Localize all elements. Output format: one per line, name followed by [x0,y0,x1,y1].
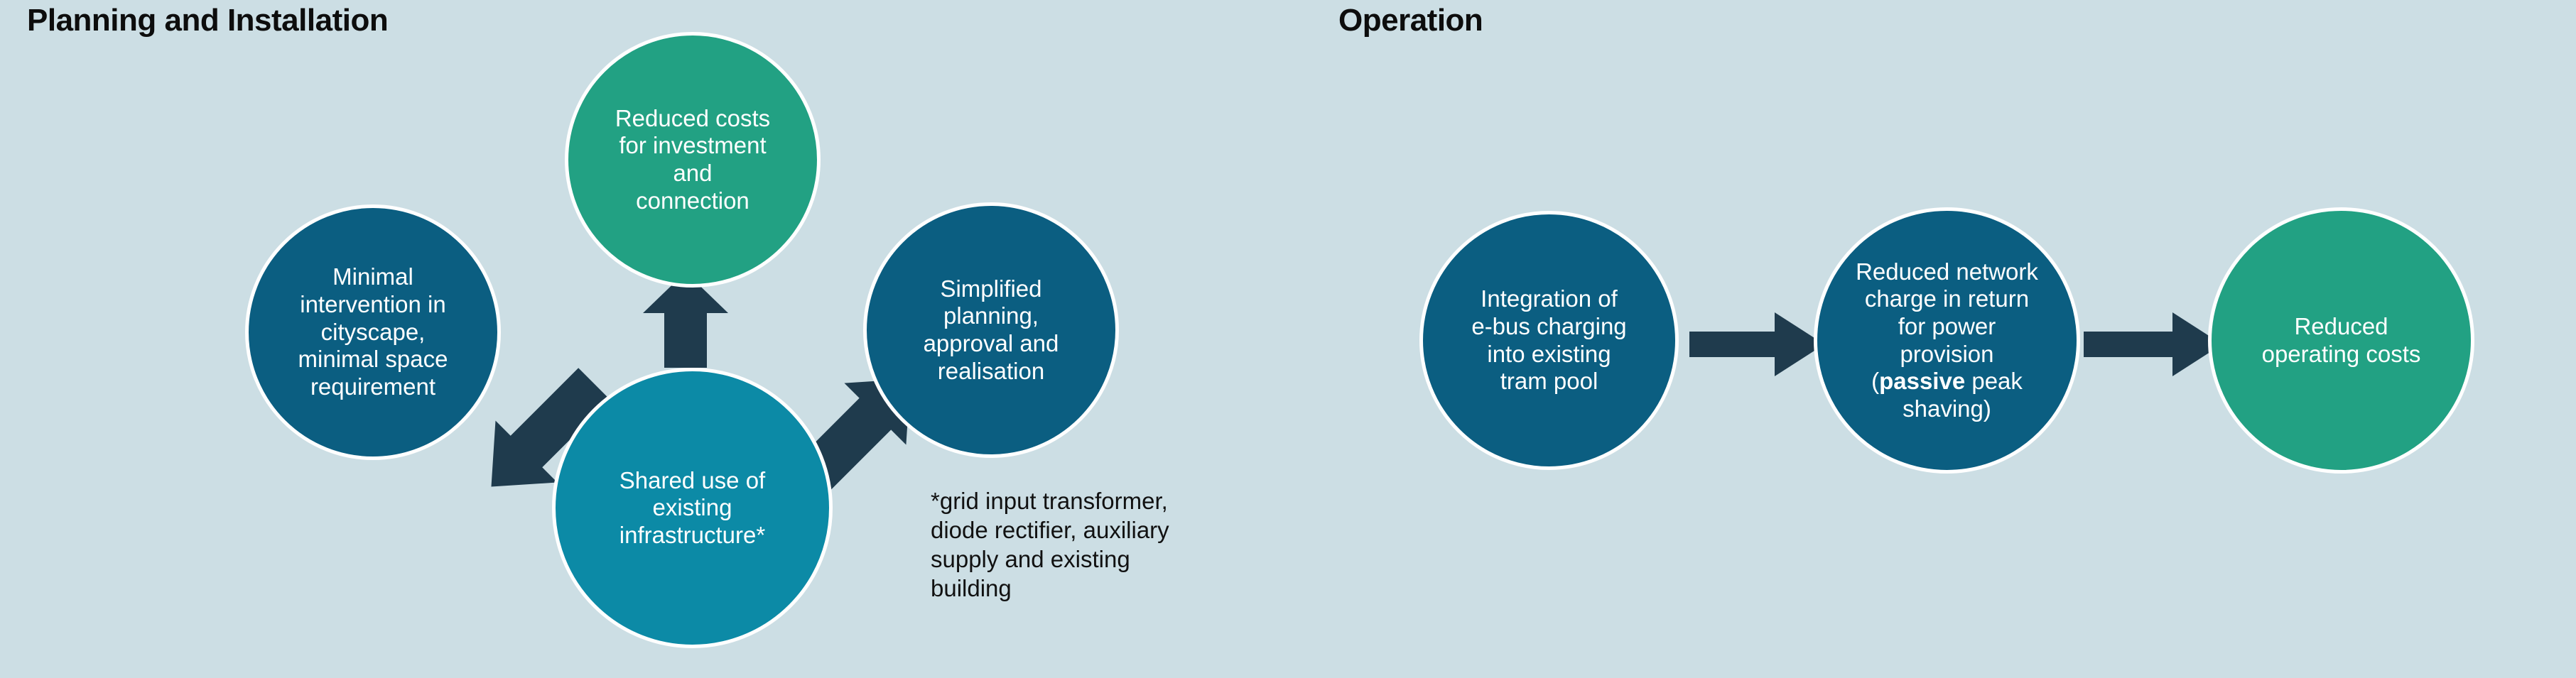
bubble-reduced-costs[interactable]: Reduced costs for investment and connect… [565,32,821,288]
bubble-simplified-planning-label: Simplified planning, approval and realis… [915,275,1068,385]
arrow-network-to-operating [2084,312,2222,376]
section-title-planning: Planning and Installation [27,3,388,38]
bubble-integration-ebus[interactable]: Integration of e-bus charging into exist… [1419,211,1679,470]
bubble-minimal-intervention[interactable]: Minimal intervention in cityscape, minim… [245,204,501,460]
network-line-2: charge in return [1865,285,2029,312]
bubble-reduced-operating-costs-label: Reduced operating costs [2253,313,2430,368]
bubble-minimal-intervention-label: Minimal intervention in cityscape, minim… [290,263,457,400]
section-title-operation: Operation [1338,3,1483,38]
bubble-shared-infrastructure-label: Shared use of existing infrastructure* [611,467,774,549]
network-line-4: provision [1900,341,1993,367]
network-line-3: for power [1898,313,1996,339]
bubble-reduced-costs-label: Reduced costs for investment and connect… [607,105,779,214]
bubble-simplified-planning[interactable]: Simplified planning, approval and realis… [863,202,1119,458]
network-line-5-suffix: peak [1965,368,2023,394]
network-line-5-emphasis: passive [1879,368,1965,394]
footnote-asterisk-note: *grid input transformer, diode rectifier… [931,487,1236,603]
bubble-integration-ebus-label: Integration of e-bus charging into exist… [1463,285,1635,395]
arrow-integration-to-network [1689,312,1824,376]
network-line-6: shaving) [1903,395,1991,422]
diagram-canvas: Planning and Installation Operation [0,0,2576,678]
network-line-1: Reduced network [1856,258,2038,285]
bubble-shared-infrastructure[interactable]: Shared use of existing infrastructure* [552,368,833,648]
network-line-5-prefix: ( [1871,368,1879,394]
bubble-reduced-network-charge[interactable]: Reduced networkcharge in returnfor power… [1814,207,2080,474]
bubble-reduced-network-charge-label: Reduced networkcharge in returnfor power… [1847,258,2047,423]
bubble-reduced-operating-costs[interactable]: Reduced operating costs [2208,207,2474,474]
